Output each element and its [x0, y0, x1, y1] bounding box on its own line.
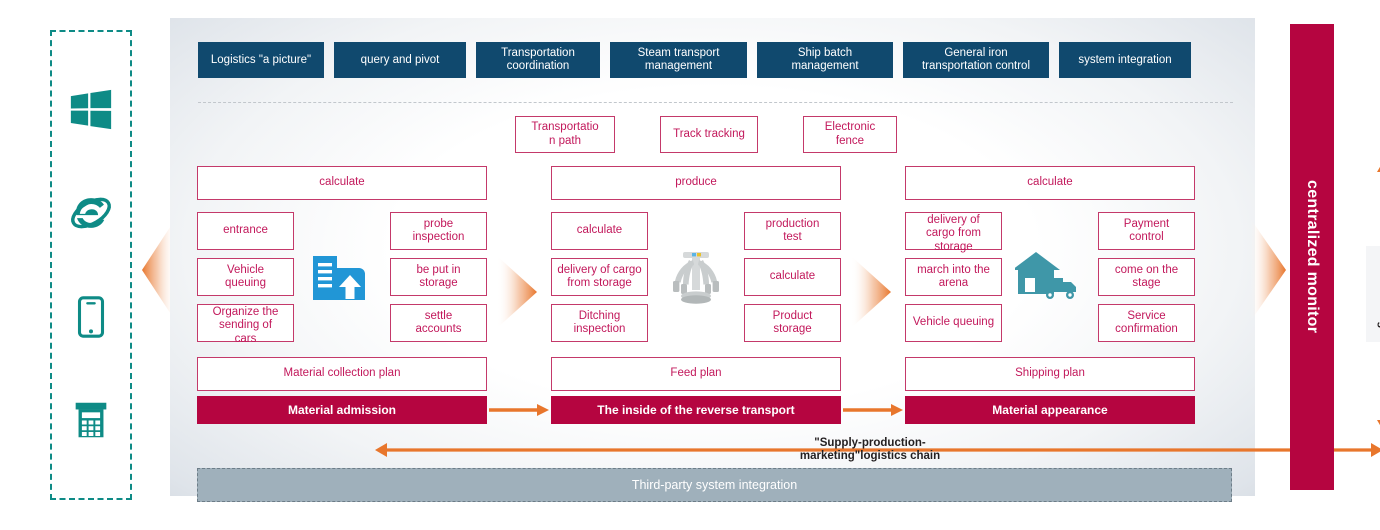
nav-divider: [198, 102, 1233, 103]
column-material-admission: calculate entrance Vehicle queuing Organ…: [197, 166, 487, 391]
device-access-rail: [50, 30, 132, 500]
third-party-system-integration-bar[interactable]: Third-party system integration: [197, 468, 1232, 502]
banner-arrow-1-icon: [489, 403, 549, 417]
nav-item-transportation-coordination[interactable]: Transportation coordination: [476, 42, 600, 78]
centralized-monitor-panel[interactable]: centralized monitor: [1290, 24, 1334, 490]
diagram-canvas: Logistics "a picture" query and pivot Tr…: [0, 0, 1380, 530]
keypad-terminal-icon: [68, 397, 114, 443]
nav-item-ship-batch-management[interactable]: Ship batch management: [757, 42, 893, 78]
internal-right-box-calculate[interactable]: calculate: [744, 258, 841, 296]
internal-right-box-production-test[interactable]: production test: [744, 212, 841, 250]
banner-arrow-2-icon: [843, 403, 903, 417]
internal-right-box-product-storage[interactable]: Product storage: [744, 304, 841, 342]
windows-logo-icon: [68, 87, 114, 133]
sub-item-track-tracking[interactable]: Track tracking: [660, 116, 758, 153]
inbound-top-box[interactable]: calculate: [197, 166, 487, 200]
banner-material-admission[interactable]: Material admission: [197, 396, 487, 424]
outbound-left-box-vehicle-queuing[interactable]: Vehicle queuing: [905, 304, 1002, 342]
robot-arm-icon: [661, 248, 731, 306]
arrow-to-monitor-icon: [1250, 218, 1294, 322]
nav-item-system-integration[interactable]: system integration: [1059, 42, 1191, 78]
main-diagram-panel: Logistics "a picture" query and pivot Tr…: [170, 18, 1255, 496]
nav-item-steam-transport-management[interactable]: Steam transport management: [610, 42, 747, 78]
inbound-left-box-entrance[interactable]: entrance: [197, 212, 294, 250]
internal-left-box-ditching-inspection[interactable]: Ditching inspection: [551, 304, 648, 342]
step-arrow-internal-to-outbound-icon: [851, 256, 899, 328]
inbound-left-box-organize-sending-cars[interactable]: Organize the sending of cars: [197, 304, 294, 342]
outbound-right-box-service-confirmation[interactable]: Service confirmation: [1098, 304, 1195, 342]
internal-bottom-box-feed-plan[interactable]: Feed plan: [551, 357, 841, 391]
outbound-top-box-calculate[interactable]: calculate: [905, 166, 1195, 200]
step-arrow-inbound-to-internal-icon: [497, 256, 545, 328]
centralized-monitor-label: centralized monitor: [1303, 180, 1321, 333]
outbound-bottom-box-shipping-plan[interactable]: Shipping plan: [905, 357, 1195, 391]
inbound-bottom-box-material-collection-plan[interactable]: Material collection plan: [197, 357, 487, 391]
banner-material-appearance[interactable]: Material appearance: [905, 396, 1195, 424]
warehouse-truck-icon: [1015, 248, 1085, 306]
outbound-right-box-come-on-the-stage[interactable]: come on the stage: [1098, 258, 1195, 296]
inbound-right-box-probe-inspection[interactable]: probe inspection: [390, 212, 487, 250]
inbound-left-box-vehicle-queuing[interactable]: Vehicle queuing: [197, 258, 294, 296]
internal-left-box-delivery-of-cargo[interactable]: delivery of cargo from storage: [551, 258, 648, 296]
internal-top-box-produce[interactable]: produce: [551, 166, 841, 200]
warehouse-inbound-icon: [307, 248, 377, 306]
nav-item-general-iron-transportation-control[interactable]: General iron transportation control: [903, 42, 1049, 78]
column-material-appearance: calculate delivery of cargo from storage…: [905, 166, 1195, 391]
internet-explorer-icon: [68, 190, 114, 236]
column-internal-transport: produce calculate delivery of cargo from…: [551, 166, 841, 391]
outbound-left-box-delivery-of-cargo[interactable]: delivery of cargo from storage: [905, 212, 1002, 250]
nav-item-query-and-pivot[interactable]: query and pivot: [334, 42, 466, 78]
internal-left-box-calculate[interactable]: calculate: [551, 212, 648, 250]
banner-reverse-transport[interactable]: The inside of the reverse transport: [551, 396, 841, 424]
top-nav-bar: Logistics "a picture" query and pivot Tr…: [198, 42, 1233, 78]
inbound-right-box-be-put-in-storage[interactable]: be put in storage: [390, 258, 487, 296]
supply-chain-label: "Supply-production- marketing"logistics …: [725, 437, 1015, 464]
mobile-phone-icon: [68, 294, 114, 340]
nav-item-logistics-picture[interactable]: Logistics "a picture": [198, 42, 324, 78]
sub-item-transportation-path[interactable]: Transportatio n path: [515, 116, 615, 153]
outbound-left-box-march-into-arena[interactable]: march into the arena: [905, 258, 1002, 296]
sub-item-electronic-fence[interactable]: Electronic fence: [803, 116, 897, 153]
sub-feature-row: Transportatio n path Track tracking Elec…: [515, 116, 895, 153]
data-sharing-label: data sharing: [1366, 246, 1380, 342]
inbound-right-box-settle-accounts[interactable]: settle accounts: [390, 304, 487, 342]
outbound-right-box-payment-control[interactable]: Payment control: [1098, 212, 1195, 250]
